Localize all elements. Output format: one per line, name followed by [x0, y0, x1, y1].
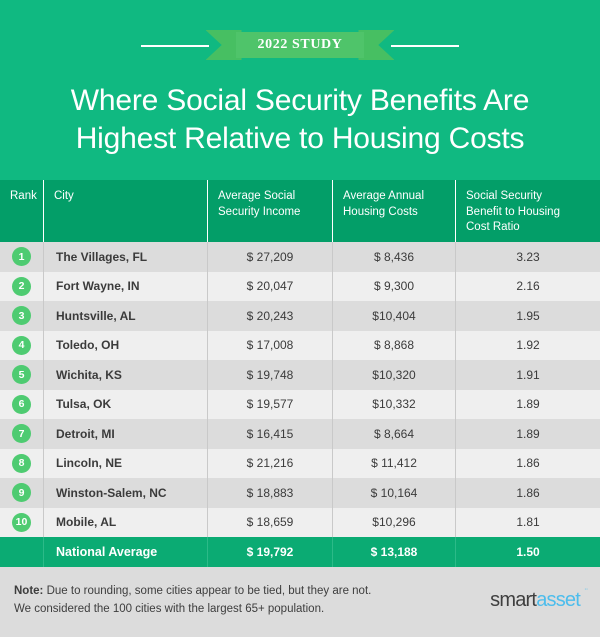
table-row: 6Tulsa, OK$ 19,577$10,3321.89 [0, 390, 600, 420]
housing-cost-cell: $10,296 [332, 508, 455, 538]
income-cell: $ 21,216 [207, 449, 332, 479]
table-row: 8Lincoln, NE$ 21,216$ 11,4121.86 [0, 449, 600, 479]
income-cell: $ 19,577 [207, 390, 332, 420]
table-row: 9Winston-Salem, NC$ 18,883$ 10,1641.86 [0, 478, 600, 508]
table-header-row: Rank City Average Social Security Income… [0, 180, 600, 242]
footnote: Note: Due to rounding, some cities appea… [14, 583, 371, 618]
rank-badge: 5 [12, 365, 31, 384]
rank-badge: 2 [12, 277, 31, 296]
city-cell: The Villages, FL [43, 242, 207, 272]
ratio-cell: 1.81 [455, 508, 600, 538]
city-cell: Winston-Salem, NC [43, 478, 207, 508]
logo-trademark-icon: ¨ [585, 587, 587, 597]
income-cell: $ 19,748 [207, 360, 332, 390]
total-ratio: 1.50 [455, 537, 600, 567]
city-cell: Lincoln, NE [43, 449, 207, 479]
ribbon-rule-left [141, 45, 209, 47]
rank-cell: 7 [0, 419, 43, 449]
column-header-ratio: Social Security Benefit to Housing Cost … [455, 180, 600, 242]
column-header-ratio-line-1: Social Security [466, 190, 542, 202]
column-header-rank: Rank [0, 180, 43, 242]
housing-cost-cell: $ 9,300 [332, 272, 455, 302]
ribbon-label: 2022 STUDY [258, 37, 343, 53]
logo-word-smart: smart [490, 589, 536, 611]
ratio-cell: 1.86 [455, 478, 600, 508]
city-cell: Huntsville, AL [43, 301, 207, 331]
housing-cost-cell: $10,320 [332, 360, 455, 390]
income-cell: $ 20,243 [207, 301, 332, 331]
column-header-housing-line-2: Housing Costs [343, 206, 418, 218]
column-header-housing: Average Annual Housing Costs [332, 180, 455, 242]
smartasset-logo: smartasset¨ [490, 589, 586, 612]
total-housing: $ 13,188 [332, 537, 455, 567]
ratio-cell: 1.91 [455, 360, 600, 390]
ratio-cell: 1.92 [455, 331, 600, 361]
table-row: 10Mobile, AL$ 18,659$10,2961.81 [0, 508, 600, 538]
rank-cell: 8 [0, 449, 43, 479]
column-header-income-line-2: Security Income [218, 206, 300, 218]
ratio-cell: 1.89 [455, 390, 600, 420]
ribbon-rule-right [391, 45, 459, 47]
total-label: National Average [43, 537, 207, 567]
column-header-housing-line-1: Average Annual [343, 190, 424, 202]
housing-cost-cell: $10,332 [332, 390, 455, 420]
rank-cell: 6 [0, 390, 43, 420]
city-cell: Mobile, AL [43, 508, 207, 538]
column-header-ratio-line-3: Cost Ratio [466, 221, 520, 233]
housing-cost-cell: $ 8,868 [332, 331, 455, 361]
rank-cell: 2 [0, 272, 43, 302]
rank-badge: 8 [12, 454, 31, 473]
rank-badge: 10 [12, 513, 31, 532]
infographic-page: 2022 STUDY Where Social Security Benefit… [0, 0, 600, 637]
table-row: 3Huntsville, AL$ 20,243$10,4041.95 [0, 301, 600, 331]
rank-badge: 4 [12, 336, 31, 355]
income-cell: $ 20,047 [207, 272, 332, 302]
column-header-income: Average Social Security Income [207, 180, 332, 242]
rank-badge: 1 [12, 247, 31, 266]
page-title: Where Social Security Benefits Are Highe… [0, 82, 600, 158]
ratio-cell: 1.89 [455, 419, 600, 449]
housing-cost-cell: $ 10,164 [332, 478, 455, 508]
rank-badge: 9 [12, 483, 31, 502]
column-header-rank-label: Rank [10, 190, 37, 202]
column-header-income-line-1: Average Social [218, 190, 295, 202]
ratio-cell: 3.23 [455, 242, 600, 272]
ratio-cell: 2.16 [455, 272, 600, 302]
table-row-national-average: National Average $ 19,792 $ 13,188 1.50 [0, 537, 600, 567]
logo-word-asset: asset [536, 589, 580, 611]
rank-badge: 6 [12, 395, 31, 414]
income-cell: $ 27,209 [207, 242, 332, 272]
page-title-line-1: Where Social Security Benefits Are [22, 82, 578, 120]
table-row: 1The Villages, FL$ 27,209$ 8,4363.23 [0, 242, 600, 272]
housing-cost-cell: $10,404 [332, 301, 455, 331]
city-cell: Toledo, OH [43, 331, 207, 361]
rank-badge: 3 [12, 306, 31, 325]
footnote-line-1: Note: Due to rounding, some cities appea… [14, 583, 371, 600]
column-header-city-label: City [54, 190, 74, 202]
column-header-ratio-line-2: Benefit to Housing [466, 206, 560, 218]
rank-cell: 10 [0, 508, 43, 538]
footer: Note: Due to rounding, some cities appea… [0, 567, 600, 634]
ratio-cell: 1.95 [455, 301, 600, 331]
rank-cell: 4 [0, 331, 43, 361]
rank-cell: 5 [0, 360, 43, 390]
rank-cell: 3 [0, 301, 43, 331]
table-row: 5Wichita, KS$ 19,748$10,3201.91 [0, 360, 600, 390]
housing-cost-cell: $ 11,412 [332, 449, 455, 479]
city-cell: Fort Wayne, IN [43, 272, 207, 302]
footnote-text-1: Due to rounding, some cities appear to b… [43, 585, 371, 597]
footnote-line-2: We considered the 100 cities with the la… [14, 601, 371, 618]
total-rank-cell [0, 537, 43, 567]
housing-cost-cell: $ 8,664 [332, 419, 455, 449]
income-cell: $ 18,659 [207, 508, 332, 538]
ribbon-banner: 2022 STUDY [236, 32, 365, 58]
city-cell: Wichita, KS [43, 360, 207, 390]
rank-badge: 7 [12, 424, 31, 443]
ratio-cell: 1.86 [455, 449, 600, 479]
housing-cost-cell: $ 8,436 [332, 242, 455, 272]
hero-section: 2022 STUDY Where Social Security Benefit… [0, 0, 600, 180]
table-row: 4Toledo, OH$ 17,008$ 8,8681.92 [0, 331, 600, 361]
income-cell: $ 17,008 [207, 331, 332, 361]
city-cell: Detroit, MI [43, 419, 207, 449]
income-cell: $ 16,415 [207, 419, 332, 449]
table-row: 7Detroit, MI$ 16,415$ 8,6641.89 [0, 419, 600, 449]
footnote-label: Note: [14, 585, 43, 597]
income-cell: $ 18,883 [207, 478, 332, 508]
table-row: 2Fort Wayne, IN$ 20,047$ 9,3002.16 [0, 272, 600, 302]
column-header-city: City [43, 180, 207, 242]
rank-cell: 9 [0, 478, 43, 508]
study-ribbon: 2022 STUDY [0, 28, 600, 62]
city-cell: Tulsa, OK [43, 390, 207, 420]
page-title-line-2: Highest Relative to Housing Costs [22, 120, 578, 158]
data-table: Rank City Average Social Security Income… [0, 180, 600, 567]
table-body: 1The Villages, FL$ 27,209$ 8,4363.232For… [0, 242, 600, 537]
rank-cell: 1 [0, 242, 43, 272]
total-income: $ 19,792 [207, 537, 332, 567]
